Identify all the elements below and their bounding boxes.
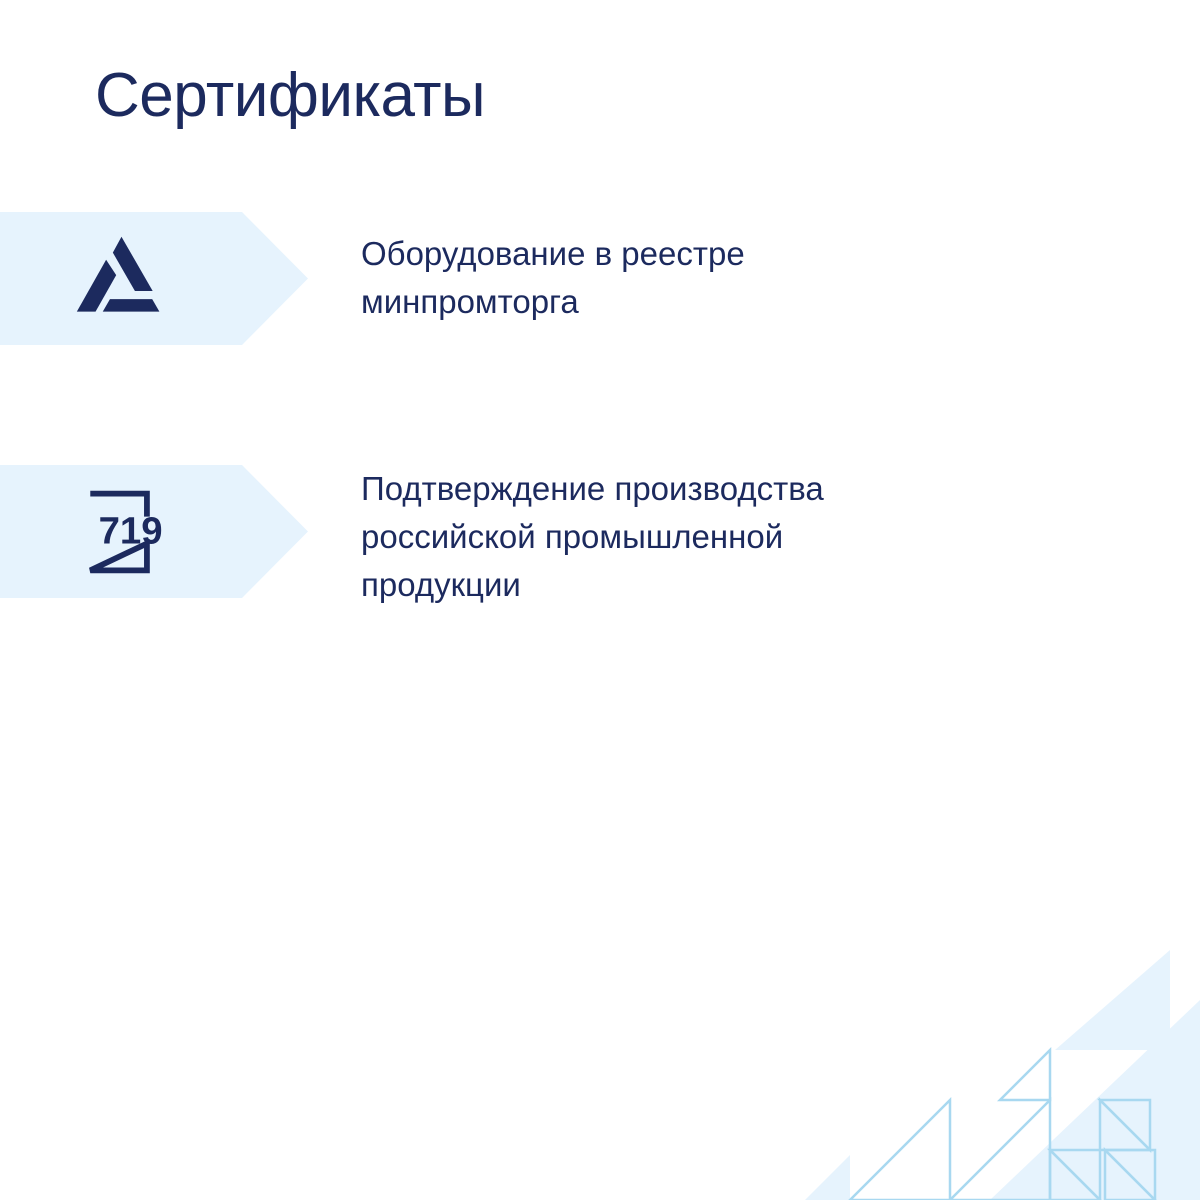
certificate-text-2: Подтверждение производства российской пр… [361,465,824,609]
minpromtorg-triangle-icon [73,231,169,327]
document-719-icon: 719 [73,484,169,580]
certificate-text-line: минпромторга [361,278,745,326]
certificate-text-1: Оборудование в реестре минпромторга [361,230,745,326]
certificate-text-line: продукции [361,561,824,609]
certificate-text-line: российской промышленной [361,513,824,561]
certificate-badge-1 [0,212,308,345]
certificate-text-line: Подтверждение производства [361,465,824,513]
certificate-text-line: Оборудование в реестре [361,230,745,278]
certificate-item-2: 719 Подтверждение производства российско… [0,465,1200,609]
certificate-badge-2: 719 [0,465,308,598]
page-title: Сертификаты [95,63,485,130]
slide-canvas: Сертификаты Оборудование в реестре минпр… [0,0,1200,1200]
decorative-triangle-pattern [760,900,1200,1200]
certificate-item-1: Оборудование в реестре минпромторга [0,212,1200,345]
document-719-icon-label: 719 [99,509,163,552]
